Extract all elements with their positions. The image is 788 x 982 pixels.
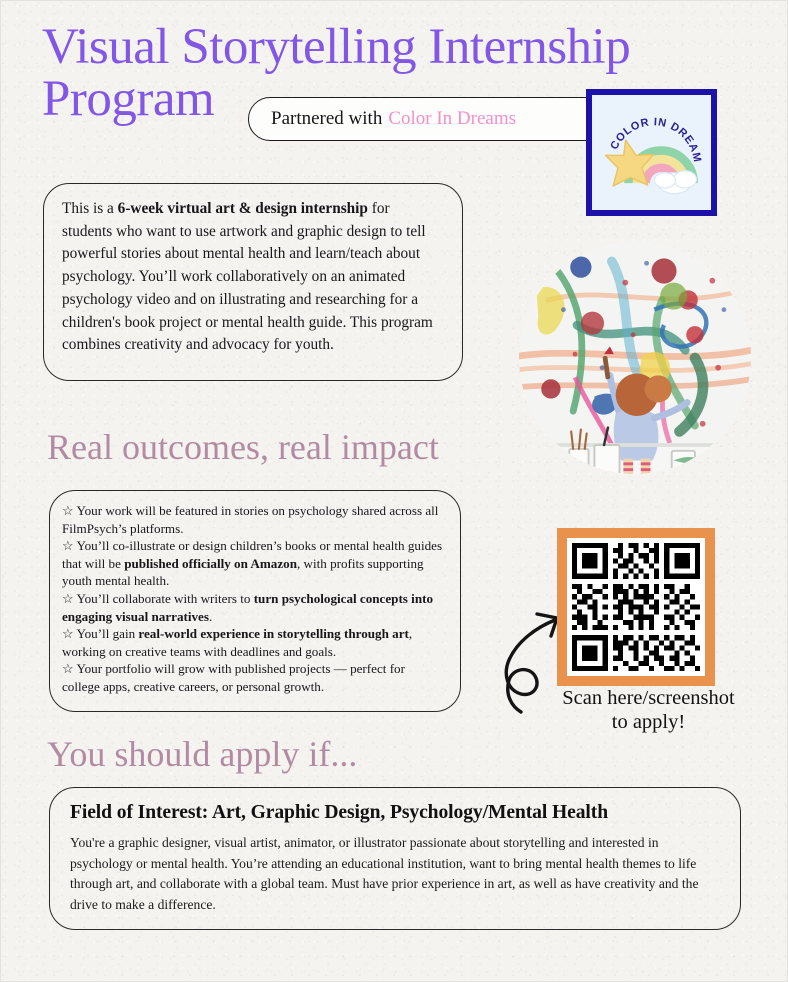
outcome-item-2: ☆ You’ll co-illustrate or design childre… <box>62 537 446 590</box>
outcome-3-pre: You’ll collaborate with writers to <box>76 591 253 606</box>
outcome-3-post: . <box>209 609 212 624</box>
child-painting-watercolor-illustration <box>519 242 751 474</box>
color-in-dreams-logo: COLOR IN DREAMS <box>586 89 717 216</box>
program-description-card: This is a 6-week virtual art & design in… <box>43 183 463 381</box>
star-bullet-icon: ☆ <box>62 591 74 606</box>
qr-code-container[interactable] <box>557 528 715 686</box>
outcome-item-1: ☆ Your work will be featured in stories … <box>62 502 446 537</box>
partner-badge: Partnered with Color In Dreams <box>248 97 638 141</box>
section-heading-apply: You should apply if... <box>47 736 357 772</box>
qr-caption-line-1: Scan here/screenshot <box>541 687 756 711</box>
partner-prefix-label: Partnered with <box>271 108 382 130</box>
star-bullet-icon: ☆ <box>62 538 74 553</box>
qr-caption: Scan here/screenshot to apply! <box>541 687 756 735</box>
poster-canvas: Visual Storytelling Internship Program P… <box>0 0 788 982</box>
apply-requirements-text: You're a graphic designer, visual artist… <box>70 833 718 916</box>
field-of-interest-heading: Field of Interest: Art, Graphic Design, … <box>70 802 718 824</box>
qr-code-image[interactable] <box>567 538 705 676</box>
outcome-item-5: ☆ Your portfolio will grow with publishe… <box>62 660 446 695</box>
qr-caption-line-2: to apply! <box>541 711 756 735</box>
outcome-1-pre: Your work will be featured in stories on… <box>62 503 438 536</box>
outcomes-card: ☆ Your work will be featured in stories … <box>49 490 461 712</box>
star-bullet-icon: ☆ <box>62 503 74 518</box>
apply-requirements-card: Field of Interest: Art, Graphic Design, … <box>49 787 741 930</box>
section-heading-outcomes: Real outcomes, real impact <box>47 429 439 465</box>
desc-bold-phrase: 6-week virtual art & design internship <box>118 200 368 217</box>
partner-brand-label: Color In Dreams <box>388 108 516 130</box>
star-bullet-icon: ☆ <box>62 661 74 676</box>
outcome-5-pre: Your portfolio will grow with published … <box>62 661 405 694</box>
outcome-item-3: ☆ You’ll collaborate with writers to tur… <box>62 590 446 625</box>
outcome-4-bold: real-world experience in storytelling th… <box>138 626 408 641</box>
outcome-2-bold: published officially on Amazon <box>124 556 297 571</box>
desc-lead: This is a <box>62 200 118 217</box>
desc-rest: for students who want to use artwork and… <box>62 200 433 353</box>
star-bullet-icon: ☆ <box>62 626 74 641</box>
program-description-text: This is a 6-week virtual art & design in… <box>62 198 442 357</box>
outcome-item-4: ☆ You’ll gain real-world experience in s… <box>62 625 446 660</box>
outcome-4-pre: You’ll gain <box>76 626 138 641</box>
